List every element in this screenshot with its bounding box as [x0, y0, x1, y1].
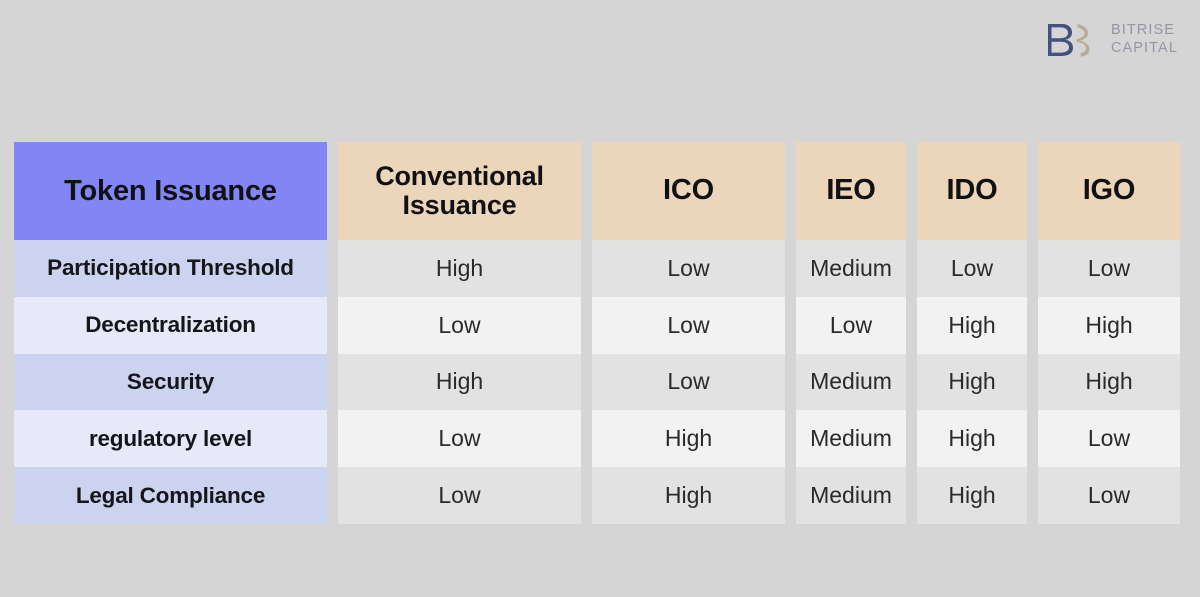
- table-cell: High: [592, 467, 785, 524]
- table-cell: High: [917, 297, 1027, 354]
- table-column-igo: IGO Low High High Low Low: [1038, 142, 1180, 524]
- table-cell: Low: [1038, 410, 1180, 467]
- table-cell: Medium: [796, 354, 906, 411]
- table-header-igo: IGO: [1038, 142, 1180, 240]
- table-cell: High: [917, 467, 1027, 524]
- table-header-conventional-issuance: Conventional Issuance: [338, 142, 581, 240]
- table-cell: Low: [338, 410, 581, 467]
- br-monogram-icon: [1042, 18, 1098, 62]
- table-cell: Medium: [796, 240, 906, 297]
- brand-line-2: CAPITAL: [1111, 40, 1178, 58]
- table-header-ico: ICO: [592, 142, 785, 240]
- table-header-token-issuance: Token Issuance: [14, 142, 327, 240]
- table-cell: Medium: [796, 410, 906, 467]
- table-cell: Medium: [796, 467, 906, 524]
- row-label-legal-compliance: Legal Compliance: [14, 467, 327, 524]
- brand-text: BITRISE CAPITAL: [1111, 22, 1178, 57]
- table-cell: Low: [796, 297, 906, 354]
- table-cell: High: [917, 410, 1027, 467]
- table-column-labels: Token Issuance Participation Threshold D…: [14, 142, 327, 524]
- table-cell: High: [1038, 354, 1180, 411]
- table-cell: Low: [338, 297, 581, 354]
- table-cell: High: [1038, 297, 1180, 354]
- table-header-ido: IDO: [917, 142, 1027, 240]
- brand-logo: BITRISE CAPITAL: [1042, 18, 1178, 62]
- table-cell: High: [338, 354, 581, 411]
- table-cell: Low: [338, 467, 581, 524]
- table-cell: Low: [592, 240, 785, 297]
- table-column-ieo: IEO Medium Low Medium Medium Medium: [796, 142, 906, 524]
- row-label-participation-threshold: Participation Threshold: [14, 240, 327, 297]
- table-column-ido: IDO Low High High High High: [917, 142, 1027, 524]
- row-label-decentralization: Decentralization: [14, 297, 327, 354]
- table-cell: Low: [1038, 240, 1180, 297]
- table-cell: Low: [592, 354, 785, 411]
- row-label-regulatory-level: regulatory level: [14, 410, 327, 467]
- row-label-security: Security: [14, 354, 327, 411]
- table-cell: High: [917, 354, 1027, 411]
- table-cell: Low: [1038, 467, 1180, 524]
- table-column-ico: ICO Low Low Low High High: [592, 142, 785, 524]
- table-column-conventional-issuance: Conventional Issuance High Low High Low …: [338, 142, 581, 524]
- table-header-ieo: IEO: [796, 142, 906, 240]
- table-cell: Low: [917, 240, 1027, 297]
- table-cell: High: [338, 240, 581, 297]
- table-cell: High: [592, 410, 785, 467]
- table-cell: Low: [592, 297, 785, 354]
- comparison-table: Token Issuance Participation Threshold D…: [14, 142, 1181, 524]
- brand-line-1: BITRISE: [1111, 22, 1178, 40]
